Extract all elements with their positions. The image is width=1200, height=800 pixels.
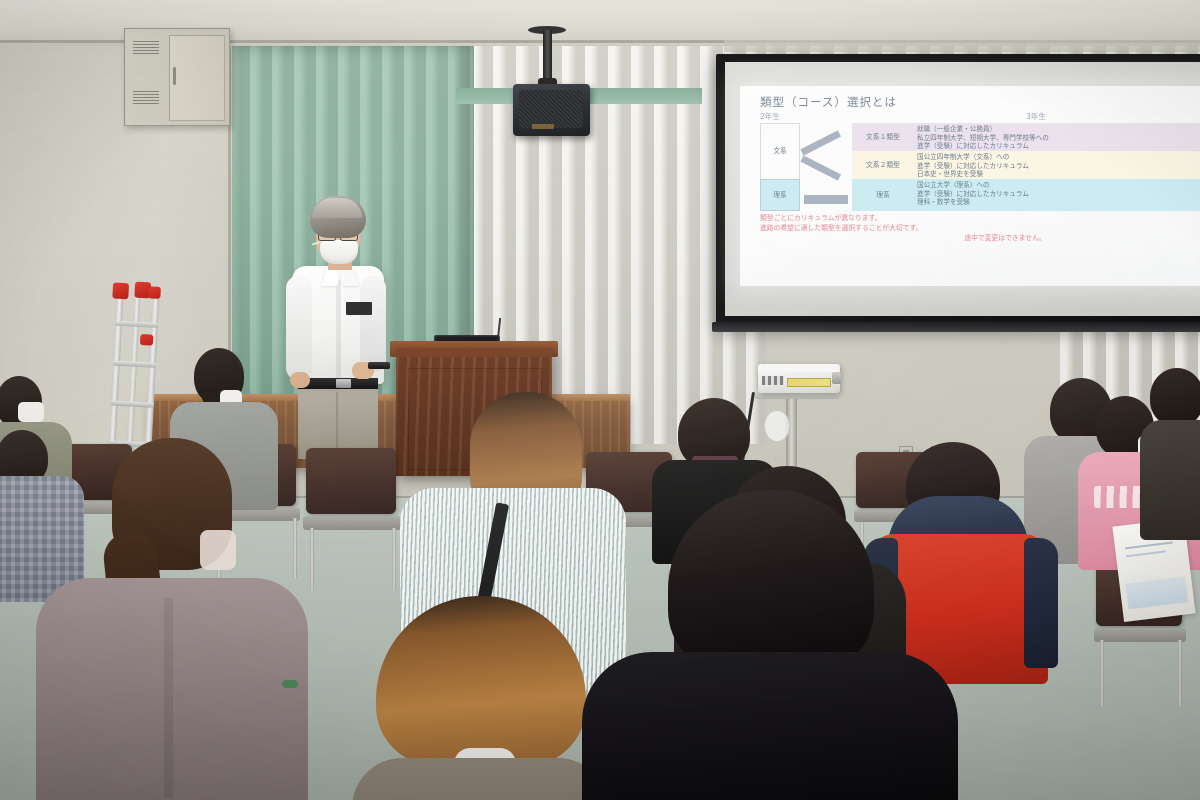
slide-note: 類型ごとにカリキュラムが異なります。 進路の希望に適した類型を選択することが大切… (760, 214, 1200, 244)
speaker-mount-pole (543, 30, 552, 84)
slide-table: 文系 理系 文系１類型 文系２類型 理系 就職（一般企業・公務員） 私立四年制大… (760, 123, 1200, 211)
ladder-cap (148, 286, 161, 299)
cabinet-handle (173, 67, 176, 85)
arrow-down-icon (800, 155, 841, 180)
presenter-shirt-placket (336, 280, 341, 380)
speaker-badge (532, 124, 554, 129)
grade-label-year2: 2年生 (760, 111, 822, 122)
screen-roller-housing (724, 40, 1200, 52)
cabinet-vent-top (133, 41, 159, 55)
presenter-hand-left (290, 372, 310, 388)
presenter-remote (368, 362, 390, 369)
slide-col-year2: 文系 理系 (760, 123, 800, 211)
ladder-cap (112, 282, 129, 299)
floor-object (282, 680, 298, 688)
cell-desc-humanities-1: 就職（一般企業・公務員） 私立四年制大学、短期大学、専門学校等への 進学（受験）… (914, 123, 1200, 151)
attendee-head (1150, 368, 1200, 426)
slide-note-line-1: 類型ごとにカリキュラムが異なります。 (760, 214, 1200, 224)
lecture-hall-photo: 類型（コース）選択とは 2年生 3年生 文系 理系 文系１類型 文系２類型 (0, 0, 1200, 800)
slide-col-descriptions: 就職（一般企業・公務員） 私立四年制大学、短期大学、専門学校等への 進学（受験）… (914, 123, 1200, 211)
cardigan-seam (164, 598, 173, 798)
attendee-torso (582, 652, 958, 800)
wall-cabinet (124, 28, 230, 126)
cell-year2-humanities: 文系 (760, 123, 800, 179)
cell-type-humanities-1: 文系１類型 (852, 123, 914, 151)
slide-note-line-3: 途中で変更はできません。 (760, 234, 1200, 244)
projector-top-cover (760, 364, 838, 372)
attendee-head (668, 490, 874, 674)
projector-ports (762, 376, 784, 385)
face-mask-icon (200, 530, 236, 570)
cabinet-door (169, 35, 225, 121)
ladder-cap (140, 334, 154, 346)
projector-warning-label (787, 378, 831, 387)
projector-hanging-tag (764, 410, 790, 442)
cell-desc-sciences: 国公立大学（理系）への 進学（受験）に対応したカリキュラム 理科・数学を受験 (914, 179, 1200, 211)
speaker-grille (519, 90, 583, 128)
face-mask-icon (320, 240, 358, 264)
cell-type-sciences: 理系 (852, 179, 914, 211)
presenter (276, 196, 400, 458)
presenter-belt-buckle (336, 379, 351, 388)
cell-desc-humanities-2: 国公立四年制大学（文系）への 進学（受験）に対応したカリキュラム 日本史・世界史… (914, 151, 1200, 179)
slide-note-line-2: 進路の希望に適した類型を選択することが大切です。 (760, 224, 1200, 234)
presenter-arm-left (286, 276, 312, 380)
cell-year2-sciences: 理系 (760, 179, 800, 211)
presenter-arm-right (360, 276, 386, 372)
jacket-sleeve-right (1024, 538, 1058, 668)
attendee-torso (352, 758, 608, 800)
cell-type-humanities-2: 文系２類型 (852, 151, 914, 179)
slide-grade-headers: 2年生 3年生 (760, 111, 1200, 122)
attendee-torso (1140, 420, 1200, 540)
grade-label-year3: 3年生 (822, 111, 1200, 122)
arrow-up-icon (800, 130, 841, 155)
slide-arrow-column (800, 123, 852, 211)
slide-col-types: 文系１類型 文系２類型 理系 (852, 123, 914, 211)
cabinet-vent-bottom (133, 91, 159, 105)
screen-bottom-bar (712, 322, 1200, 332)
face-mask-icon (18, 402, 44, 422)
arrow-right-icon (804, 195, 848, 204)
projected-slide: 類型（コース）選択とは 2年生 3年生 文系 理系 文系１類型 文系２類型 (740, 86, 1200, 286)
slide-title: 類型（コース）選択とは (760, 94, 1200, 110)
projector-lens (832, 372, 841, 384)
presenter-name-badge (346, 302, 372, 315)
